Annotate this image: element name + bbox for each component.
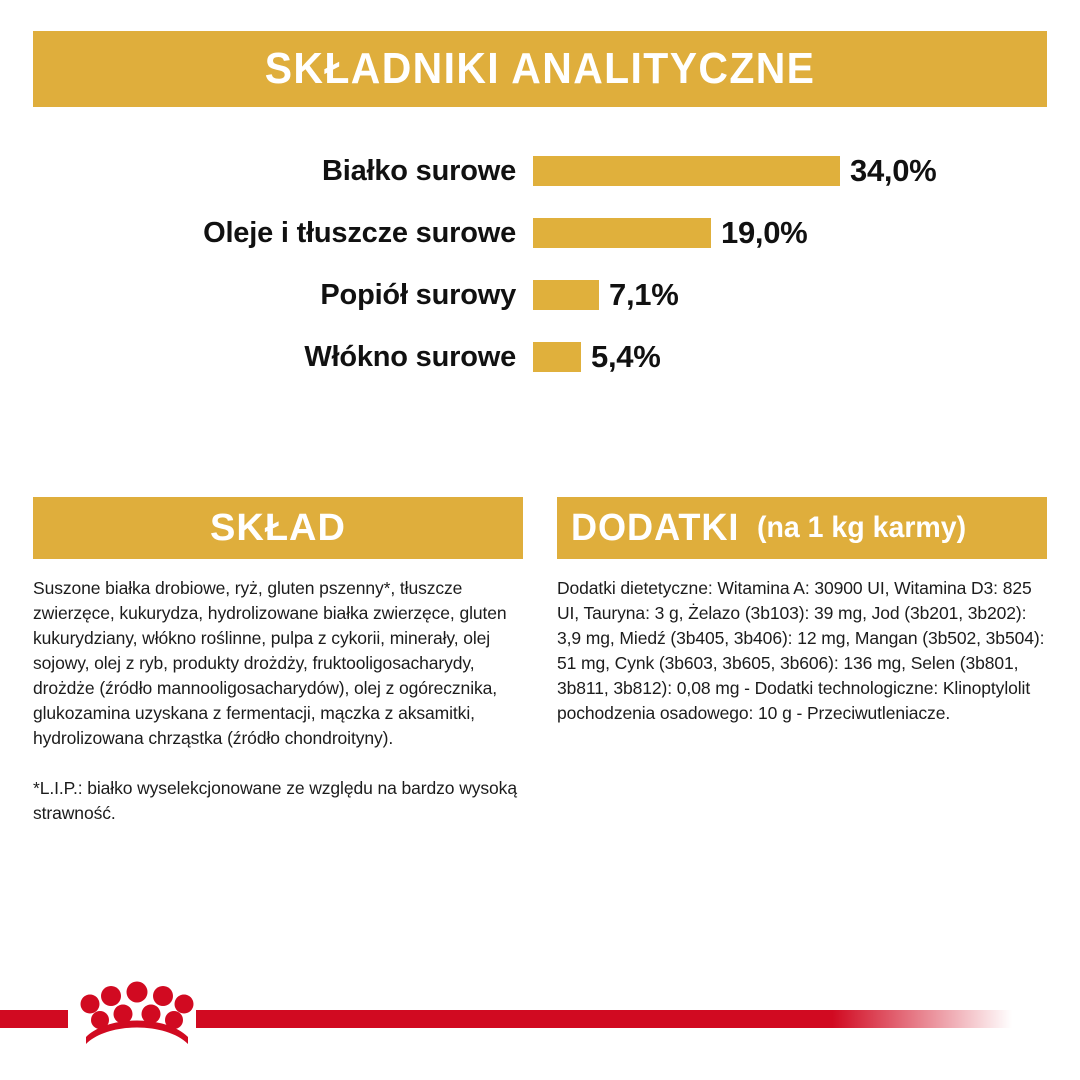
footer-rule-right (196, 1010, 1012, 1028)
additives-heading-sub: (na 1 kg karmy) (757, 513, 966, 543)
chart-value: 7,1% (609, 277, 678, 313)
chart-bar-wrap: 7,1% (533, 277, 1047, 313)
chart-bar (533, 342, 581, 372)
page-title: SKŁADNIKI ANALITYCZNE (265, 47, 816, 91)
chart-label: Włókno surowe (33, 341, 533, 374)
chart-row: Popiół surowy 7,1% (33, 264, 1047, 326)
composition-heading: SKŁAD (210, 509, 346, 547)
composition-banner: SKŁAD (33, 497, 523, 559)
royal-canin-crown-icon (78, 970, 196, 1050)
composition-section: SKŁAD Suszone białka drobiowe, ryż, glut… (33, 497, 523, 826)
additives-text: Dodatki dietetyczne: Witamina A: 30900 U… (557, 576, 1047, 726)
chart-bar-wrap: 19,0% (533, 215, 1047, 251)
chart-bar (533, 280, 599, 310)
additives-heading: DODATKI (571, 509, 739, 547)
chart-label: Oleje i tłuszcze surowe (33, 217, 533, 250)
chart-row: Oleje i tłuszcze surowe 19,0% (33, 202, 1047, 264)
analytical-constituents-chart: Białko surowe 34,0% Oleje i tłuszcze sur… (33, 140, 1047, 388)
chart-value: 34,0% (850, 153, 936, 189)
chart-row: Białko surowe 34,0% (33, 140, 1047, 202)
footer (0, 962, 1080, 1080)
chart-bar-wrap: 34,0% (533, 153, 1047, 189)
chart-bar-wrap: 5,4% (533, 339, 1047, 375)
chart-label: Białko surowe (33, 155, 533, 188)
chart-value: 5,4% (591, 339, 660, 375)
composition-footnote: *L.I.P.: białko wyselekcjonowane ze wzgl… (33, 776, 523, 826)
analytical-constituents-banner: SKŁADNIKI ANALITYCZNE (33, 31, 1047, 107)
chart-bar (533, 156, 840, 186)
chart-row: Włókno surowe 5,4% (33, 326, 1047, 388)
chart-label: Popiół surowy (33, 279, 533, 312)
additives-body: Dodatki dietetyczne: Witamina A: 30900 U… (557, 576, 1047, 726)
chart-bar (533, 218, 711, 248)
additives-section: DODATKI (na 1 kg karmy) Dodatki dietetyc… (557, 497, 1047, 726)
chart-value: 19,0% (721, 215, 807, 251)
composition-body: Suszone białka drobiowe, ryż, gluten psz… (33, 576, 523, 826)
composition-text: Suszone białka drobiowe, ryż, gluten psz… (33, 576, 523, 751)
additives-banner: DODATKI (na 1 kg karmy) (557, 497, 1047, 559)
footer-rule-left (0, 1010, 68, 1028)
